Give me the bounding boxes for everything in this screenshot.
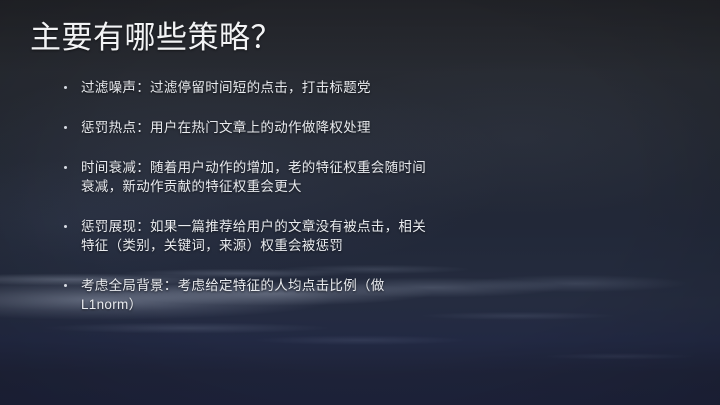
bullet-item-filter-noise: 过滤噪声：过滤停留时间短的点击，打击标题党 <box>62 78 562 97</box>
bullet-text: 惩罚热点：用户在热门文章上的动作做降权处理 <box>81 118 562 137</box>
bullet-dot-icon <box>64 166 67 169</box>
bullet-dot-icon <box>64 126 67 129</box>
presentation-slide: 主要有哪些策略？ 过滤噪声：过滤停留时间短的点击，打击标题党 惩罚热点：用户在热… <box>0 0 720 405</box>
bullet-dot-icon <box>64 225 67 228</box>
bullet-item-penalize-hotspot: 惩罚热点：用户在热门文章上的动作做降权处理 <box>62 118 562 137</box>
slide-title: 主要有哪些策略？ <box>30 18 282 58</box>
bullet-item-time-decay: 时间衰减：随着用户动作的增加，老的特征权重会随时间 衰减，新动作贡献的特征权重会… <box>62 158 562 196</box>
bullet-dot-icon <box>64 284 67 287</box>
bullet-text: 时间衰减：随着用户动作的增加，老的特征权重会随时间 衰减，新动作贡献的特征权重会… <box>81 158 562 196</box>
bullet-text: 惩罚展现：如果一篇推荐给用户的文章没有被点击，相关 特征（类别，关键词，来源）权… <box>81 217 562 255</box>
bullet-item-penalize-impression: 惩罚展现：如果一篇推荐给用户的文章没有被点击，相关 特征（类别，关键词，来源）权… <box>62 217 562 255</box>
slide-content: 主要有哪些策略？ 过滤噪声：过滤停留时间短的点击，打击标题党 惩罚热点：用户在热… <box>0 0 720 405</box>
bullet-text: 考虑全局背景：考虑给定特征的人均点击比例（做 L1norm） <box>81 276 562 314</box>
bullet-item-global-background: 考虑全局背景：考虑给定特征的人均点击比例（做 L1norm） <box>62 276 562 314</box>
bullet-dot-icon <box>64 86 67 89</box>
bullet-text: 过滤噪声：过滤停留时间短的点击，打击标题党 <box>81 78 562 97</box>
bullet-list: 过滤噪声：过滤停留时间短的点击，打击标题党 惩罚热点：用户在热门文章上的动作做降… <box>62 78 562 314</box>
